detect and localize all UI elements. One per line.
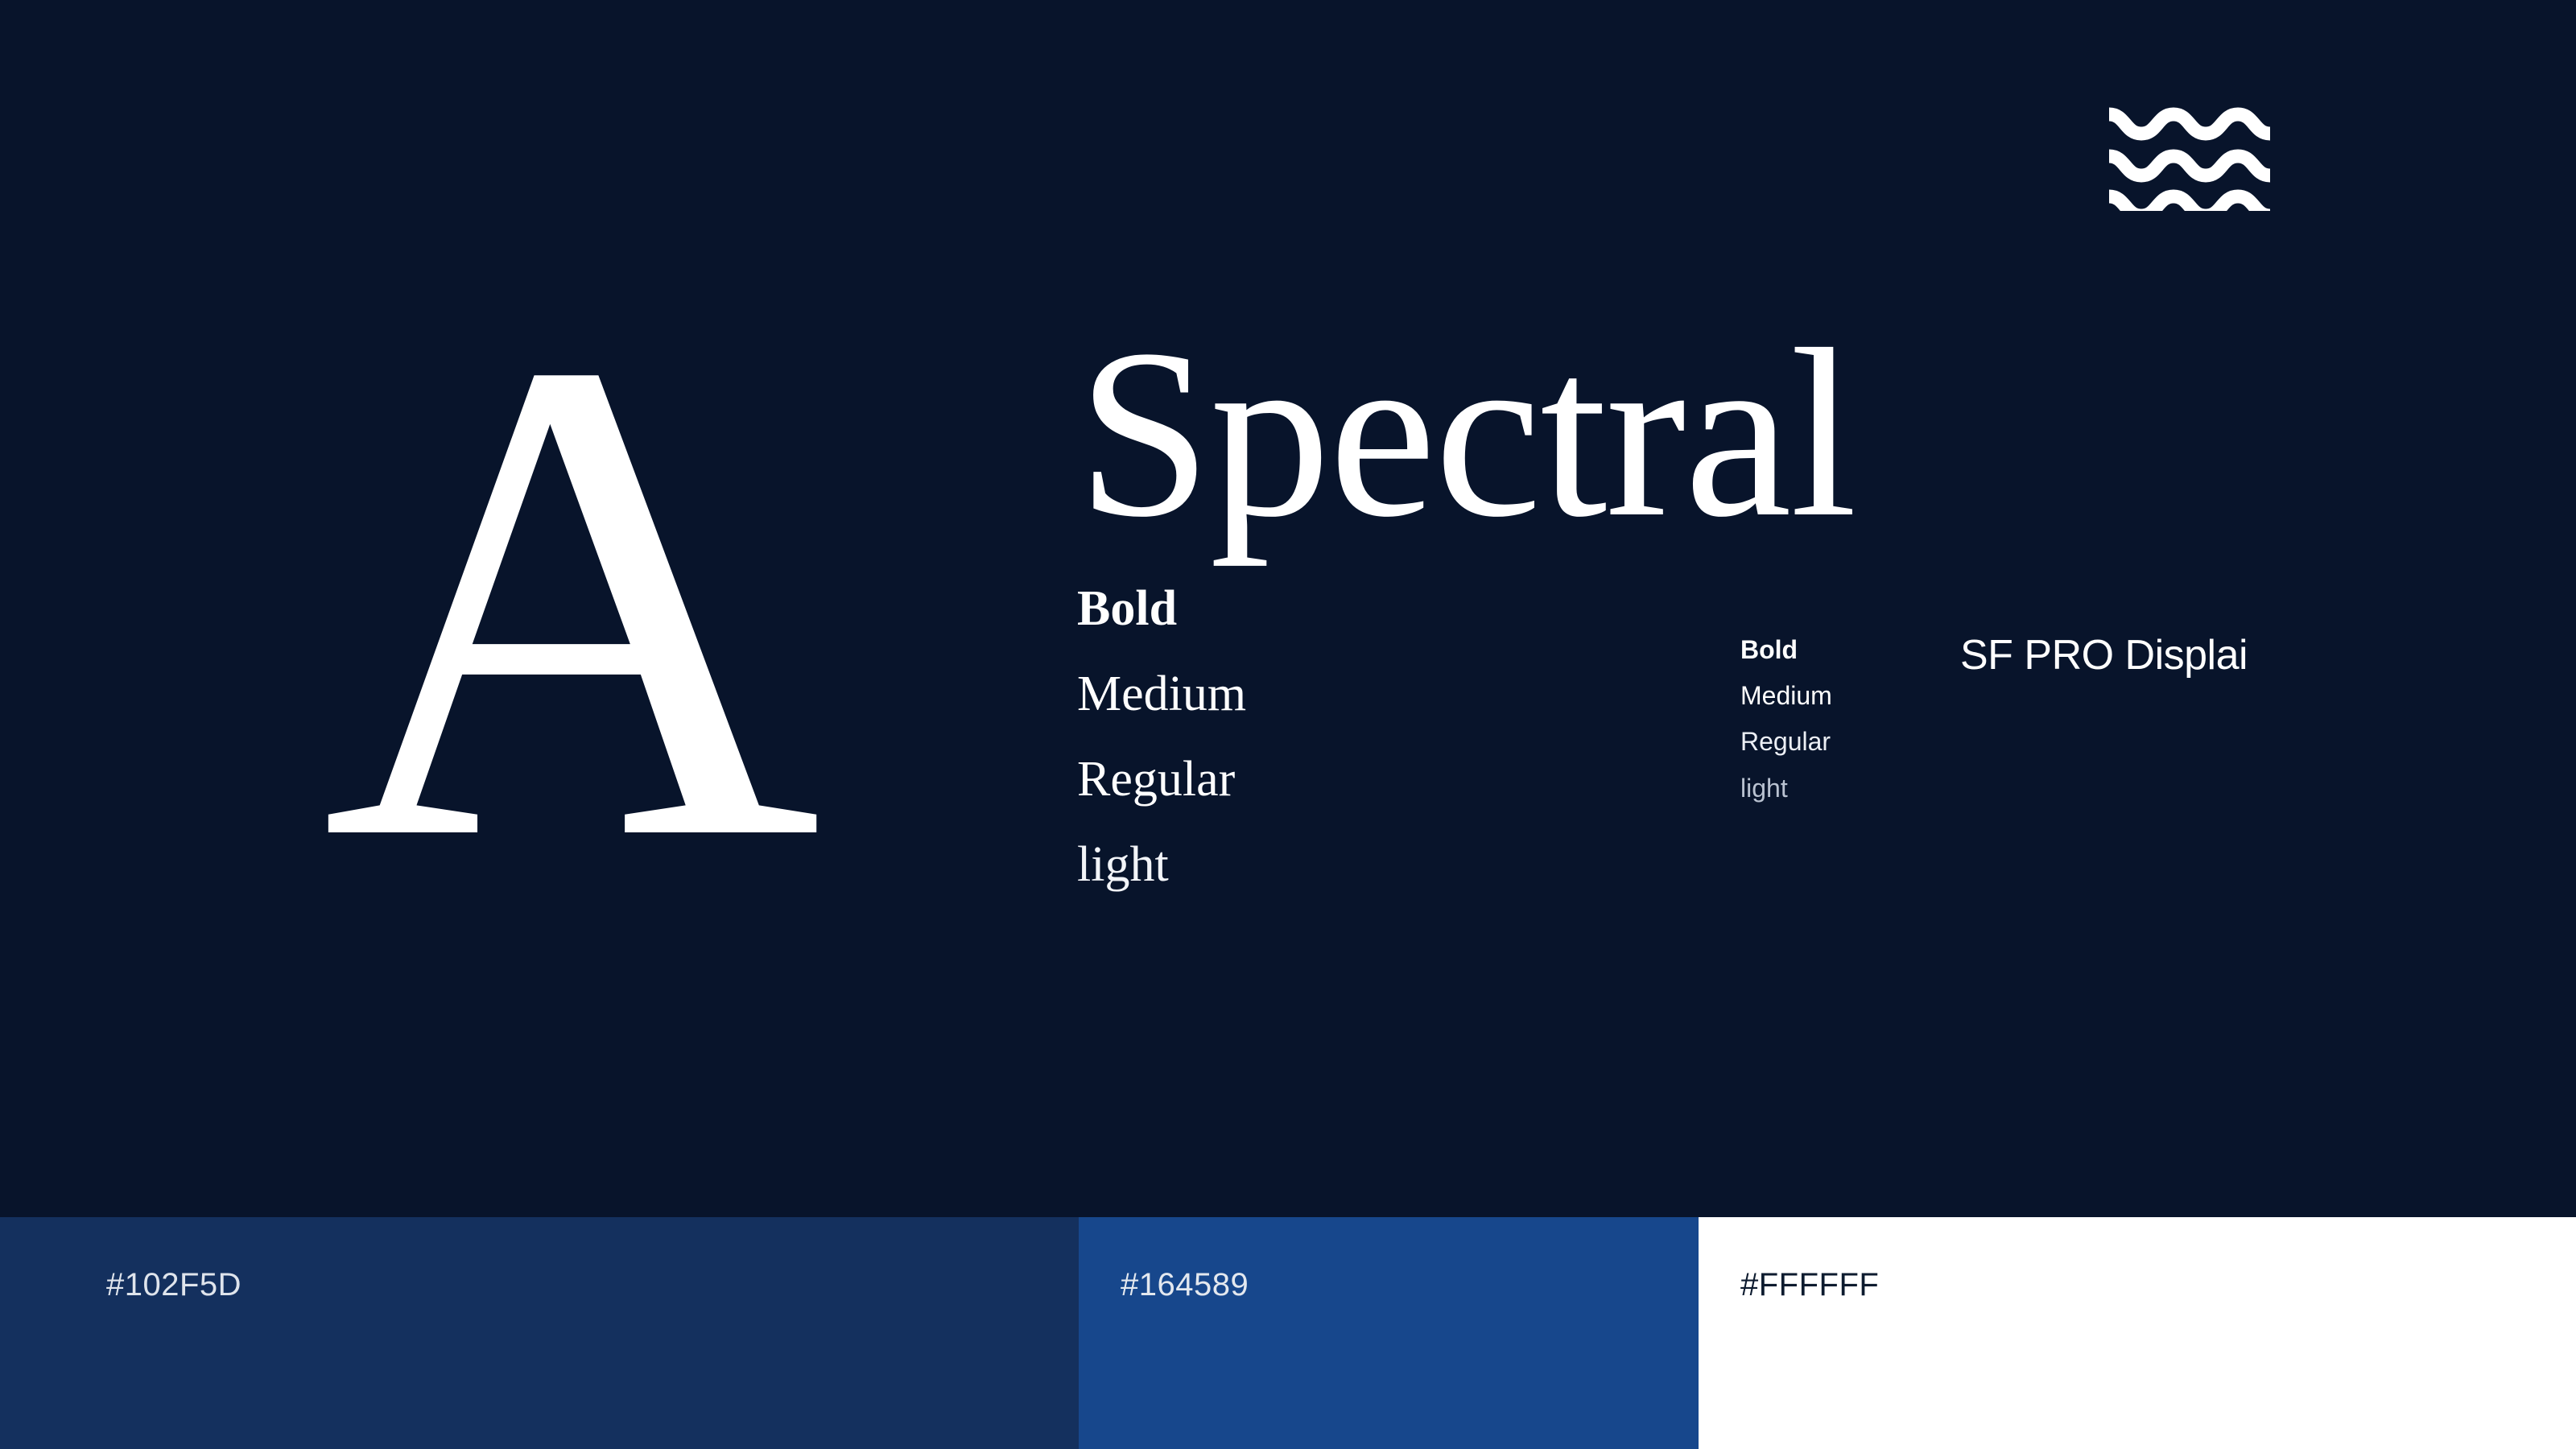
secondary-weight-light: light	[1740, 774, 2465, 803]
wave-logo-icon	[2107, 101, 2272, 211]
secondary-weight-medium: Medium	[1740, 682, 2465, 710]
color-swatch-primary-dark[interactable]: #102F5D	[0, 1217, 1079, 1449]
color-swatch-white[interactable]: #FFFFFF	[1699, 1217, 2576, 1449]
secondary-weight-regular: Regular	[1740, 728, 2465, 756]
primary-weight-light: light	[1077, 829, 1979, 902]
color-swatch-label: #FFFFFF	[1740, 1267, 1879, 1303]
color-swatch-label: #102F5D	[106, 1267, 242, 1303]
style-guide-board: A Spectral Bold Medium Regular light Bol…	[0, 0, 2576, 1449]
primary-typeface-block: Spectral Bold Medium Regular light	[1077, 322, 1979, 902]
secondary-typeface-name: SF PRO Displai	[1960, 633, 2248, 679]
color-palette-strip: #102F5D #164589 #FFFFFF	[0, 1217, 2576, 1449]
color-swatch-label: #164589	[1121, 1267, 1249, 1303]
primary-weight-bold: Bold	[1077, 573, 1979, 646]
primary-typeface-name: Spectral	[1077, 322, 1979, 544]
color-swatch-primary-blue[interactable]: #164589	[1079, 1217, 1699, 1449]
specimen-letter: A	[266, 266, 877, 934]
